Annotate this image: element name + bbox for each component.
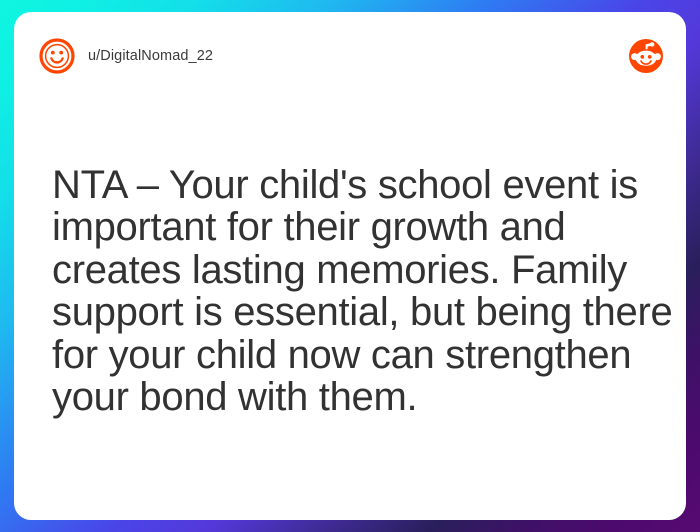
- screenshot-root: u/DigitalNomad_22: [0, 0, 700, 532]
- reddit-snoo-logo-icon[interactable]: [628, 38, 664, 74]
- post-author[interactable]: u/DigitalNomad_22: [38, 37, 213, 75]
- author-name-label: u/DigitalNomad_22: [88, 48, 213, 64]
- post-body-text: NTA – Your child's school event is impor…: [52, 164, 678, 418]
- smiley-face-avatar-icon[interactable]: [38, 37, 76, 75]
- reddit-post-card: u/DigitalNomad_22: [14, 12, 686, 520]
- post-header: u/DigitalNomad_22: [14, 12, 686, 100]
